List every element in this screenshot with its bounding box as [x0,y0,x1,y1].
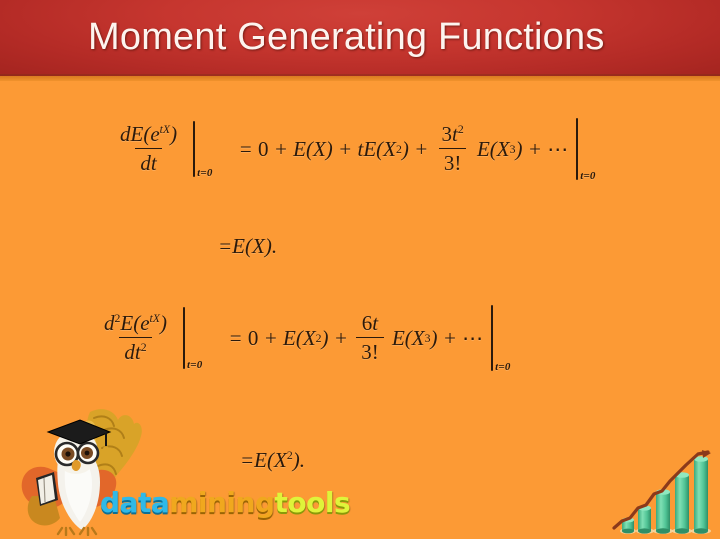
eq1-eval-bar-left: t=0 [193,121,212,177]
eq2-close: ). [265,234,277,258]
eq1-plus-1: + [274,137,288,162]
eq1-den-dt: dt [135,148,161,176]
chart-bar-3 [656,489,670,534]
chart-bar-4 [675,472,689,534]
eq3-num-exponent: tX [150,312,160,325]
eq3-eval-bar-right: t=0 [491,305,510,371]
equation-second-derivative-result: =E(X2). [240,448,305,473]
eq1-term-EX3-close: ) [516,137,523,162]
eq2-equals: = [218,234,232,258]
equation-second-derivative: d2E(etX) dt2 t=0 = 0 + E(X2) + 6t 3! E(X… [96,305,511,371]
eq1-plus-3: + [414,137,428,162]
chart-bar-5 [694,456,708,534]
eq1-eval-right-subscript: t=0 [580,170,595,182]
eq1-lhs-fraction: dE(etX) dt [115,122,182,176]
eq3-den-exponent: 2 [141,341,147,354]
eq3-frac-denominator: 3! [356,337,384,365]
eq1-coefficient-fraction: 3t2 3! [437,122,469,176]
eq3-eval-subscript: t=0 [187,359,202,371]
brand-wordmark: dataminingtools [100,489,350,517]
eq3-term-EX3: E(X [392,326,425,351]
eq1-num-close: ) [170,122,177,146]
slide-canvas: Moment Generating Functions dE(etX) dt t… [0,0,720,539]
equation-first-derivative: dE(etX) dt t=0 = 0 + E(X) + tE(X2) + 3t2… [112,118,596,180]
eq3-eval-right-subscript: t=0 [495,361,510,373]
eq3-term-EX2-close: ) [322,326,329,351]
eq1-frac-exponent: 2 [458,123,464,136]
eq1-eval-bar-right: t=0 [576,118,595,180]
eq4-expectation: E(X [254,448,287,472]
wordmark-data: data [100,489,169,517]
eq1-term-EX2: E(X [363,137,396,162]
growth-bar-chart [612,448,716,536]
eq3-den-dt: dt [124,340,140,364]
eq3-term-EX2: E(X [283,326,316,351]
eq1-plus-2: + [338,137,352,162]
eq3-plus-2: + [334,326,348,351]
eq3-equals: = [228,326,242,351]
title-banner: Moment Generating Functions [0,0,720,76]
equation-first-derivative-result: =E(X). [218,234,277,259]
eq1-eval-subscript: t=0 [197,167,212,179]
eq1-zero: 0 [258,137,269,162]
eq4-close: ). [293,448,305,472]
eq3-frac-var: t [372,311,378,335]
eq3-ellipsis: ⋯ [462,326,483,351]
eq3-lhs-fraction: d2E(etX) dt2 [99,311,172,365]
owl-feet-icon [58,528,96,535]
eq1-plus-4: + [528,137,542,162]
chart-bar-2 [638,505,651,533]
eq1-term-EX: E(X) [293,137,333,162]
owl-book-icon [36,472,58,506]
eq1-term-EX2-close: ) [402,137,409,162]
eq1-term-EX3: E(X [477,137,510,162]
eq3-zero: 0 [248,326,259,351]
eq1-ellipsis: ⋯ [547,137,568,162]
wordmark-tools: tools [275,489,351,517]
eq2-expectation: E(X [232,234,265,258]
eq3-plus-3: + [443,326,457,351]
eq1-num-exponent: tX [160,123,170,136]
eq3-num-close: ) [160,311,167,335]
eq1-equals: = [239,137,253,162]
eq1-frac-coef: 3 [442,122,453,146]
wordmark-mining: mining [169,489,274,517]
eq3-term-EX3-close: ) [431,326,438,351]
eq3-num-E: E(e [120,311,149,335]
chart-bars [622,456,708,534]
eq3-frac-coef: 6 [362,311,373,335]
eq3-eval-bar-left: t=0 [183,307,202,369]
eq3-coefficient-fraction: 6t 3! [356,311,384,365]
page-title: Moment Generating Functions [88,16,648,59]
eq3-plus-1: + [264,326,278,351]
eq1-num-dE: dE(e [120,122,160,146]
eq3-num-d: d [104,311,115,335]
eq4-equals: = [240,448,254,472]
eq1-frac-denominator: 3! [439,148,467,176]
